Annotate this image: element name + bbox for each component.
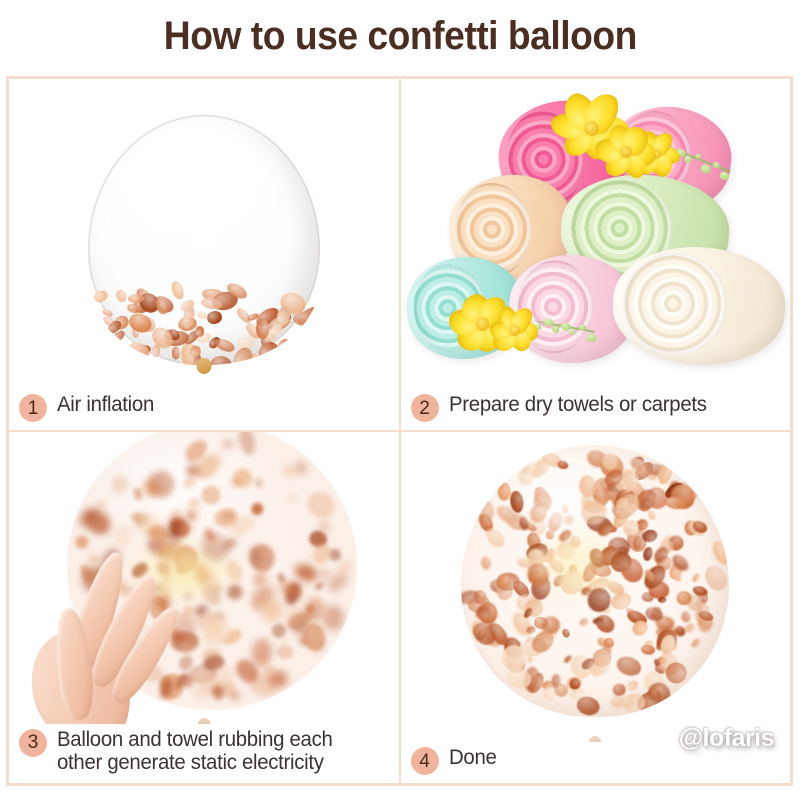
- step-4-label: Done: [449, 746, 497, 770]
- hand-graphic: [31, 552, 211, 724]
- flower-center: [509, 325, 519, 335]
- flower-center: [476, 317, 490, 331]
- rolled-towels-graphic: [401, 79, 791, 389]
- page-title: How to use confetti balloon: [163, 14, 636, 59]
- step-4-badge: 4: [411, 747, 439, 775]
- step-2-caption: 2 Prepare dry towels or carpets: [401, 389, 791, 430]
- step-1-label: Air inflation: [57, 393, 154, 417]
- step-3-caption: 3 Balloon and towel rubbing each other g…: [9, 724, 399, 783]
- step-3-label: Balloon and towel rubbing each other gen…: [57, 728, 333, 775]
- clear-balloon-graphic: [88, 115, 320, 365]
- step-1-image: [9, 79, 399, 389]
- step-3-image: [9, 432, 399, 724]
- balloon-knot: [196, 358, 211, 374]
- step-2-label: Prepare dry towels or carpets: [449, 393, 707, 417]
- infographic-page: How to use confetti balloon 1 Air inflat…: [0, 0, 800, 800]
- step-2-image: [401, 79, 791, 389]
- step-panel-4: 4 Done @lofaris: [400, 431, 792, 784]
- step-1-badge: 1: [19, 394, 47, 422]
- leaf-bud: [694, 153, 701, 160]
- step-panel-1: 1 Air inflation: [8, 78, 400, 431]
- towel-cream: [610, 243, 788, 370]
- steps-grid: 1 Air inflation 2 Prepare dry towels or …: [6, 76, 793, 786]
- step-panel-2: 2 Prepare dry towels or carpets: [400, 78, 792, 431]
- step-4-image: [401, 432, 791, 742]
- step-3-badge: 3: [19, 729, 47, 757]
- step-panel-3: 3 Balloon and towel rubbing each other g…: [8, 431, 400, 784]
- flower-top-second: [597, 125, 656, 178]
- step-1-caption: 1 Air inflation: [9, 389, 399, 430]
- page-header: How to use confetti balloon: [0, 0, 800, 72]
- step-2-badge: 2: [411, 394, 439, 422]
- flower-bottom-second: [489, 307, 540, 353]
- finished-confetti-balloon-graphic: [461, 445, 729, 717]
- watermark: @lofaris: [679, 724, 774, 753]
- towel-spiral: [620, 250, 728, 357]
